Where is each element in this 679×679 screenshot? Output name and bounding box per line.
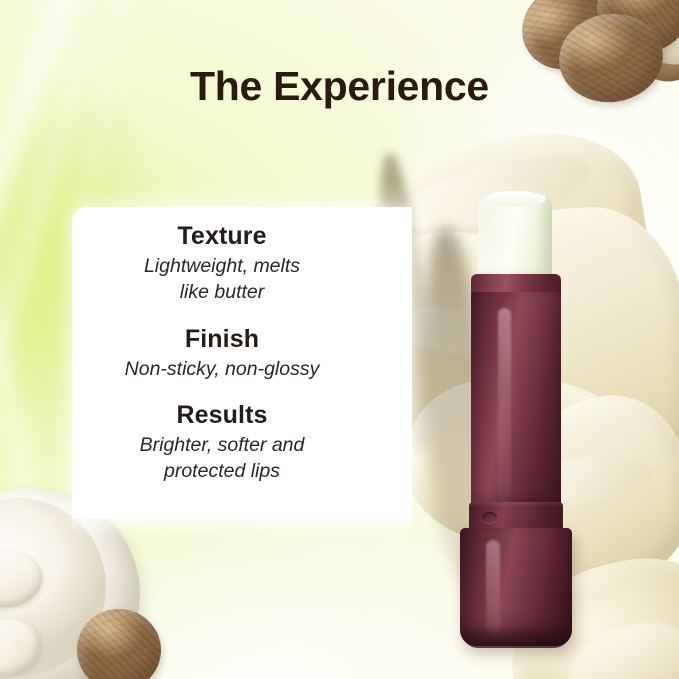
feature-title: Results — [72, 400, 372, 431]
balm-tip — [478, 196, 552, 282]
lip-balm-product — [452, 196, 576, 600]
features-list: Texture Lightweight, meltslike butter Fi… — [72, 221, 372, 484]
page-title: The Experience — [0, 63, 679, 110]
feature-finish: Finish Non-sticky, non-glossy — [72, 324, 372, 382]
base-bottom-shadow — [462, 628, 570, 648]
feature-title: Texture — [72, 221, 372, 252]
feature-texture: Texture Lightweight, meltslike butter — [72, 221, 372, 306]
feature-description: Brighter, softer andprotected lips — [72, 432, 372, 484]
tube-body — [471, 292, 561, 512]
feature-description: Non-sticky, non-glossy — [72, 356, 372, 382]
tube-highlight — [498, 308, 511, 504]
features-card: Texture Lightweight, meltslike butter Fi… — [72, 207, 412, 519]
base-highlight — [486, 540, 500, 634]
feature-description: Lightweight, meltslike butter — [72, 253, 372, 305]
feature-title: Finish — [72, 324, 372, 355]
product-feature-graphic: The Experience Texture Lightweight, melt… — [0, 0, 679, 679]
feature-results: Results Brighter, softer andprotected li… — [72, 400, 372, 485]
collar-detail-icon — [482, 512, 497, 523]
